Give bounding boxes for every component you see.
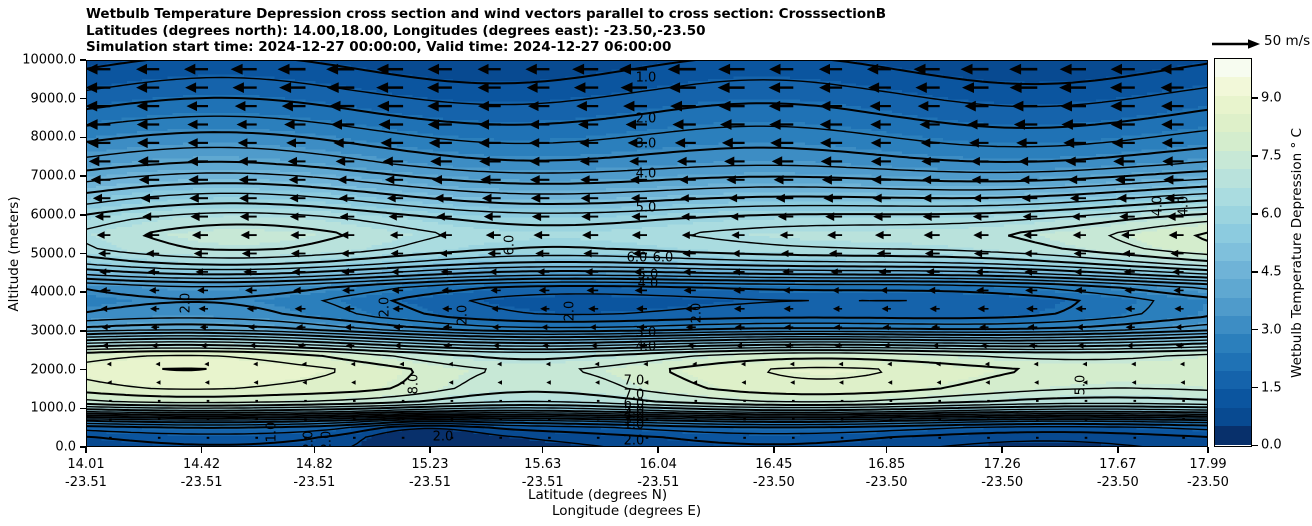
colorbar-segment xyxy=(1215,206,1251,224)
y-tick-label: 1000.0 xyxy=(31,401,77,416)
wind-vector-arrow xyxy=(841,437,844,439)
contour-label: 4.0 xyxy=(638,277,659,292)
wind-vector-arrow xyxy=(987,437,990,439)
wind-vector-arrow xyxy=(353,437,356,439)
contour-label: 2.0 xyxy=(456,305,471,326)
y-tick-label: 7000.0 xyxy=(31,169,77,184)
wind-vector-arrow xyxy=(695,400,698,402)
colorbar-segment xyxy=(1215,96,1251,114)
wind-vector-arrow xyxy=(938,418,941,420)
x-tick-label-latitude: 16.04 xyxy=(640,457,677,472)
wind-vector-arrow xyxy=(646,400,649,402)
figure-title-line-2: Latitudes (degrees north): 14.00,18.00, … xyxy=(86,23,1206,40)
contour-label: 5.0 xyxy=(636,201,657,216)
x-tick-label-longitude: -23.50 xyxy=(753,475,795,490)
y-tick-mark xyxy=(80,369,86,371)
x-axis-title-longitude: Longitude (degrees E) xyxy=(552,503,701,519)
contour-label: 1.0 xyxy=(624,418,645,433)
contour-label: 3.0 xyxy=(636,137,657,152)
contour-label: 5.0 xyxy=(1074,375,1089,396)
x-tick-label-longitude: -23.51 xyxy=(65,475,107,490)
cross-section-plot-area: 1.01.02.02.03.03.04.04.05.05.06.06.06.06… xyxy=(86,60,1208,447)
x-tick-mark xyxy=(314,447,316,453)
x-tick-mark xyxy=(542,447,544,453)
contour-label: 4.0 xyxy=(636,340,657,355)
figure-title-line-3: Simulation start time: 2024-12-27 00:00:… xyxy=(86,39,1206,56)
wind-vector-arrow xyxy=(499,437,502,439)
wind-vector-arrow xyxy=(987,418,990,420)
wind-vector-arrow xyxy=(695,418,698,420)
contour-label: 2.0 xyxy=(378,297,393,318)
contour-label: 6.0 xyxy=(653,251,674,266)
contour-line xyxy=(162,369,206,371)
x-tick-label-latitude: 15.63 xyxy=(524,457,561,472)
y-tick-mark xyxy=(80,137,86,139)
wind-vector-arrow xyxy=(792,418,795,420)
contour-label: 3.0 xyxy=(636,326,657,341)
wind-vector-arrow xyxy=(743,400,746,402)
contour-label: 4.0 xyxy=(636,167,657,182)
wind-vector-arrow xyxy=(1036,437,1039,439)
wind-vector-arrow xyxy=(158,437,161,439)
x-tick-mark xyxy=(201,447,203,453)
wind-vector-arrow xyxy=(987,400,990,402)
colorbar-segment xyxy=(1215,132,1251,150)
quiver-key: 50 m/s xyxy=(1212,33,1312,55)
x-tick-mark xyxy=(1117,447,1119,453)
contour-fill-svg: 1.01.02.02.03.03.04.04.05.05.06.06.06.06… xyxy=(86,60,1208,447)
contour-label: 2.0 xyxy=(636,112,657,127)
x-tick-label-longitude: -23.51 xyxy=(181,475,223,490)
contour-label: 1.0 xyxy=(265,422,280,443)
colorbar-segment xyxy=(1215,408,1251,426)
colorbar-tick-label: 9.0 xyxy=(1261,91,1282,106)
contour-label: 2.0 xyxy=(179,293,194,314)
wind-vector-arrow xyxy=(890,400,893,402)
wind-vector-arrow xyxy=(207,418,210,420)
wind-vector-arrow xyxy=(451,418,454,420)
x-tick-label-longitude: -23.51 xyxy=(293,475,335,490)
colorbar-title-text: Wetbulb Temperature Depression ° C xyxy=(1289,128,1305,378)
colorbar-segment xyxy=(1215,371,1251,389)
colorbar-segment xyxy=(1215,426,1251,444)
colorbar-segment xyxy=(1215,353,1251,371)
wind-vector-arrow xyxy=(1134,437,1137,439)
wind-vector-arrow xyxy=(548,400,551,402)
colorbar-segment xyxy=(1215,298,1251,316)
colorbar-segment xyxy=(1215,334,1251,352)
x-tick-label-longitude: -23.50 xyxy=(1097,475,1139,490)
figure-root: Wetbulb Temperature Depression cross sec… xyxy=(0,0,1312,526)
contour-label: 1.0 xyxy=(636,71,657,86)
quiver-key-label: 50 m/s xyxy=(1264,33,1310,49)
x-tick-label-latitude: 16.45 xyxy=(755,457,792,472)
colorbar-title: Wetbulb Temperature Depression ° C xyxy=(1286,58,1308,447)
wind-vector-arrow xyxy=(353,418,356,420)
wind-vector-arrow xyxy=(1085,400,1088,402)
wind-vector-arrow xyxy=(451,400,454,402)
wind-vector-arrow xyxy=(158,400,161,402)
wind-vector-arrow xyxy=(1182,437,1185,439)
colorbar-segment xyxy=(1215,279,1251,297)
x-axis-title-latitude: Latitude (degrees N) xyxy=(528,487,667,503)
x-tick-label-latitude: 14.01 xyxy=(67,457,104,472)
contour-label: 2.0 xyxy=(302,431,317,447)
x-tick-mark xyxy=(429,447,431,453)
wind-vector-arrow xyxy=(499,418,502,420)
wind-vector-arrow xyxy=(743,437,746,439)
wind-vector-arrow xyxy=(841,400,844,402)
colorbar-segment xyxy=(1215,224,1251,242)
x-tick-mark xyxy=(773,447,775,453)
colorbar-segment xyxy=(1215,316,1251,334)
wind-vector-arrow xyxy=(1085,437,1088,439)
wind-vector-arrow xyxy=(109,418,112,420)
colorbar-tick-mark xyxy=(1252,445,1258,447)
wind-vector-arrow xyxy=(646,418,649,420)
wind-vector-arrow xyxy=(1085,418,1088,420)
y-tick-label: 6000.0 xyxy=(31,207,77,222)
contour-label: 6.0 xyxy=(627,251,648,266)
wind-vector-arrow xyxy=(890,418,893,420)
wind-vector-arrow xyxy=(743,418,746,420)
wind-vector-arrow xyxy=(1036,400,1039,402)
colorbar-segment xyxy=(1215,151,1251,169)
y-tick-mark xyxy=(80,330,86,332)
colorbar-segment xyxy=(1215,261,1251,279)
colorbar-segment xyxy=(1215,77,1251,95)
x-tick-label-latitude: 15.23 xyxy=(411,457,448,472)
y-tick-mark xyxy=(80,59,86,61)
wind-vector-arrow xyxy=(597,437,600,439)
colorbar-segment xyxy=(1215,59,1251,77)
x-tick-mark xyxy=(1207,447,1209,453)
wind-vector-arrow xyxy=(402,400,405,402)
wind-vector-arrow xyxy=(938,400,941,402)
x-tick-label-latitude: 17.67 xyxy=(1099,457,1136,472)
wind-vector-arrow xyxy=(158,418,161,420)
y-tick-mark xyxy=(80,98,86,100)
colorbar-tick-label: 7.5 xyxy=(1261,149,1282,164)
contour-label: 2.0 xyxy=(433,430,454,445)
contour-label: 4.0 xyxy=(1151,196,1166,217)
colorbar-tick-mark xyxy=(1252,97,1258,99)
wind-vector-arrow xyxy=(304,418,307,420)
wind-vector-arrow xyxy=(255,418,258,420)
x-tick-label-longitude: -23.50 xyxy=(1187,475,1229,490)
wind-vector-arrow xyxy=(499,400,502,402)
colorbar-segment xyxy=(1215,188,1251,206)
colorbar-tick-label: 3.0 xyxy=(1261,322,1282,337)
contour-label: 2.0 xyxy=(690,303,705,324)
wind-vector-arrow xyxy=(207,437,210,439)
colorbar-tick-label: 0.0 xyxy=(1261,438,1282,453)
wind-vector-arrow xyxy=(207,400,210,402)
x-tick-mark xyxy=(657,447,659,453)
wind-vector-arrow xyxy=(109,400,112,402)
figure-title-block: Wetbulb Temperature Depression cross sec… xyxy=(86,6,1206,56)
y-tick-mark xyxy=(80,214,86,216)
wind-vector-arrow xyxy=(792,400,795,402)
y-axis-title: Altitude (meters) xyxy=(4,60,24,447)
x-tick-label-longitude: -23.50 xyxy=(981,475,1023,490)
y-axis-title-text: Altitude (meters) xyxy=(6,196,22,311)
colorbar-segment xyxy=(1215,169,1251,187)
y-tick-label: 10000.0 xyxy=(22,53,76,68)
y-tick-mark xyxy=(80,175,86,177)
wind-vector-arrow xyxy=(109,437,112,439)
y-tick-mark xyxy=(80,408,86,410)
contour-label: 2.0 xyxy=(563,301,578,322)
contour-label: 2.0 xyxy=(624,434,645,448)
y-tick-label: 5000.0 xyxy=(31,246,77,261)
colorbar-tick-label: 1.5 xyxy=(1261,380,1282,395)
wind-vector-arrow xyxy=(1134,418,1137,420)
y-tick-label: 4000.0 xyxy=(31,285,77,300)
x-tick-mark xyxy=(85,447,87,453)
x-tick-label-latitude: 14.82 xyxy=(296,457,333,472)
contour-label: 7.0 xyxy=(624,374,645,389)
colorbar-segment xyxy=(1215,389,1251,407)
contour-label: 8.0 xyxy=(407,374,422,395)
wind-vector-arrow xyxy=(1134,400,1137,402)
y-tick-label: 8000.0 xyxy=(31,130,77,145)
wind-vector-arrow xyxy=(841,418,844,420)
wind-vector-arrow xyxy=(255,400,258,402)
arrow-right-icon xyxy=(1212,36,1262,52)
wind-vector-arrow xyxy=(792,437,795,439)
y-tick-mark xyxy=(80,253,86,255)
contour-label: 2.0 xyxy=(320,431,335,447)
colorbar-tick-mark xyxy=(1252,213,1258,215)
x-tick-mark xyxy=(1001,447,1003,453)
x-tick-label-latitude: 14.42 xyxy=(183,457,220,472)
wind-vector-arrow xyxy=(938,437,941,439)
colorbar-tick-mark xyxy=(1252,387,1258,389)
wind-vector-arrow xyxy=(353,400,356,402)
y-tick-label: 0.0 xyxy=(55,440,76,455)
wind-vector-arrow xyxy=(695,437,698,439)
wind-vector-arrow xyxy=(255,437,258,439)
y-tick-label: 3000.0 xyxy=(31,323,77,338)
wind-vector-arrow xyxy=(597,418,600,420)
contour-label: 6.0 xyxy=(503,235,518,256)
wind-vector-arrow xyxy=(890,437,893,439)
x-tick-label-latitude: 16.85 xyxy=(868,457,905,472)
wind-vector-arrow xyxy=(402,418,405,420)
figure-title-line-1: Wetbulb Temperature Depression cross sec… xyxy=(86,6,1206,23)
x-tick-label-latitude: 17.99 xyxy=(1189,457,1226,472)
colorbar-tick-label: 6.0 xyxy=(1261,206,1282,221)
colorbar-tick-mark xyxy=(1252,155,1258,157)
wind-vector-arrow xyxy=(402,437,405,439)
colorbar-segment xyxy=(1215,243,1251,261)
x-tick-label-longitude: -23.50 xyxy=(866,475,908,490)
x-tick-label-longitude: -23.51 xyxy=(409,475,451,490)
wind-vector-arrow xyxy=(1036,418,1039,420)
colorbar-tick-mark xyxy=(1252,271,1258,273)
colorbar-tick-label: 4.5 xyxy=(1261,264,1282,279)
wind-vector-arrow xyxy=(646,437,649,439)
x-tick-mark xyxy=(886,447,888,453)
colorbar-tick-mark xyxy=(1252,329,1258,331)
colorbar xyxy=(1214,58,1252,447)
wind-vector-arrow xyxy=(597,400,600,402)
wind-vector-arrow xyxy=(548,418,551,420)
wind-vector-arrow xyxy=(548,437,551,439)
x-tick-label-latitude: 17.26 xyxy=(984,457,1021,472)
wind-vector-arrow xyxy=(304,400,307,402)
wind-vector-arrow xyxy=(1182,418,1185,420)
y-tick-mark xyxy=(80,291,86,293)
colorbar-segment xyxy=(1215,114,1251,132)
y-tick-label: 2000.0 xyxy=(31,362,77,377)
wind-vector-arrow xyxy=(1182,400,1185,402)
y-tick-label: 9000.0 xyxy=(31,91,77,106)
contour-label: 4.0 xyxy=(1177,196,1192,217)
